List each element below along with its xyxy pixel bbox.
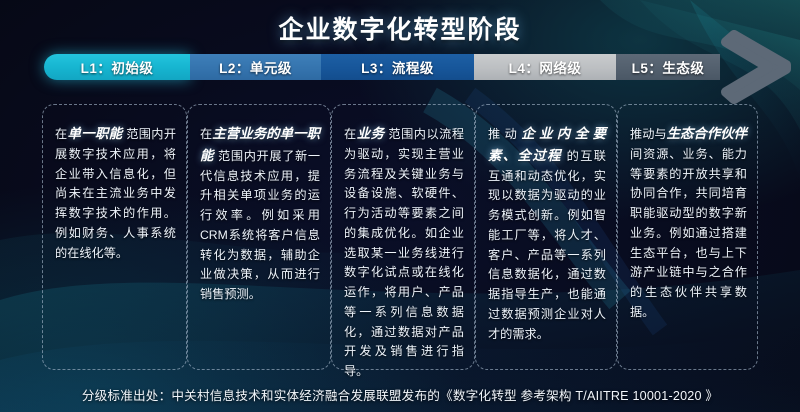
chevron-right-icon [720,30,798,104]
stage-card-l1: 在单一职能 范围内开展数字技术应用，将企业带入信息化，但尚未在主流业务中发挥数字… [42,104,187,370]
page-title: 企业数字化转型阶段 [0,10,800,46]
card-body: 范围内以流程为驱动，实现主营业务流程及关键业务与设备设施、软硬件、行为活动等要素… [344,127,464,378]
level-segment-l5[interactable]: L5：生态级 [616,54,720,80]
level-label-l3: L3：流程级 [361,57,434,77]
stage-card-l3: 在业务 范围内以流程为驱动，实现主营业务流程及关键业务与设备设施、软硬件、行为活… [331,104,475,370]
stage-card-text: 推动企业内全要素、全过程 的互联互通和动态优化，实现以数据为驱动的业务模式创新。… [488,123,606,344]
stage-card-text: 推动与生态合作伙伴 间资源、业务、能力等要素的开放共享和协同合作，共同培育职能驱… [630,123,747,323]
stage-card-text: 在主营业务的单一职能 范围内开展了新一代信息技术应用，提升相关单项业务的运行效率… [200,123,320,305]
card-lead: 在 [344,127,357,141]
level-label-l1: L1：初始级 [81,57,154,77]
card-body: 范围内开展数字技术应用，将企业带入信息化，但尚未在主流业务中发挥数字技术的作用。… [55,127,176,260]
card-body: 间资源、业务、能力等要素的开放共享和协同合作，共同培育职能驱动型的数字新业务。例… [630,147,747,319]
card-emphasis: 业务 [357,126,385,141]
stage-card-l2: 在主营业务的单一职能 范围内开展了新一代信息技术应用，提升相关单项业务的运行效率… [187,104,331,370]
card-lead: 推动与 [630,127,667,141]
level-bar: L1：初始级 L2：单元级 L3：流程级 L4：网络级 L5：生态级 [44,54,720,80]
level-label-l4: L4：网络级 [509,57,582,77]
card-lead: 推动 [488,127,521,141]
card-body: 范围内开展了新一代信息技术应用，提升相关单项业务的运行效率。例如采用CRM系统将… [200,149,320,301]
slide-canvas: 企业数字化转型阶段 L1：初始级 L2：单元级 L3：流程级 L4：网络级 L5… [0,0,800,412]
level-segment-l1[interactable]: L1：初始级 [44,54,190,80]
level-label-l2: L2：单元级 [219,57,292,77]
level-segment-l3[interactable]: L3：流程级 [321,54,474,80]
stage-card-text: 在单一职能 范围内开展数字技术应用，将企业带入信息化，但尚未在主流业务中发挥数字… [55,123,176,263]
stage-card-list: 在单一职能 范围内开展数字技术应用，将企业带入信息化，但尚未在主流业务中发挥数字… [42,104,758,370]
level-segment-l2[interactable]: L2：单元级 [190,54,321,80]
level-segment-l4[interactable]: L4：网络级 [474,54,616,80]
stage-card-l5: 推动与生态合作伙伴 间资源、业务、能力等要素的开放共享和协同合作，共同培育职能驱… [617,104,758,370]
stage-card-l4: 推动企业内全要素、全过程 的互联互通和动态优化，实现以数据为驱动的业务模式创新。… [475,104,617,370]
card-emphasis: 单一职能 [68,126,123,141]
source-note: 分级标准出处：中关村信息技术和实体经济融合发展联盟发布的《数字化转型 参考架构 … [0,385,800,404]
card-body: 的互联互通和动态优化，实现以数据为驱动的业务模式创新。例如智能工厂等，将人才、客… [488,149,606,341]
level-label-l5: L5：生态级 [632,57,705,77]
card-lead: 在 [200,127,212,141]
card-emphasis: 生态合作伙伴 [667,126,747,141]
card-lead: 在 [55,127,68,141]
stage-card-text: 在业务 范围内以流程为驱动，实现主营业务流程及关键业务与设备设施、软硬件、行为活… [344,123,464,382]
